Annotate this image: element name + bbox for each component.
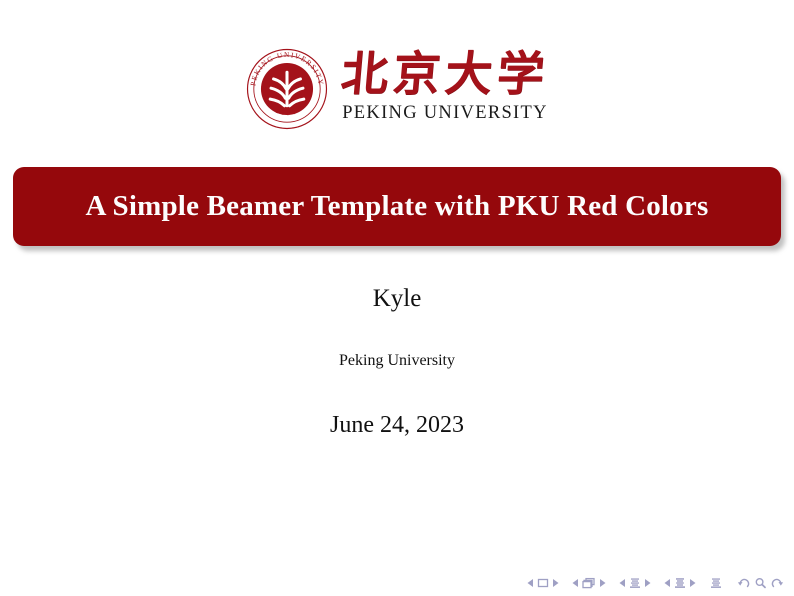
nav-group-slide[interactable] [526, 577, 560, 589]
author-name: Kyle [0, 286, 794, 311]
title-page-meta: Kyle Peking University June 24, 2023 [0, 286, 794, 437]
document-icon[interactable] [710, 577, 722, 589]
frame-icon[interactable] [582, 577, 596, 589]
page-title: A Simple Beamer Template with PKU Red Co… [86, 190, 709, 223]
search-icon[interactable] [754, 577, 767, 589]
beamer-navigation-bar[interactable] [526, 574, 786, 592]
nav-group-document[interactable] [708, 577, 724, 589]
logo-inner: PEKING UNIVERSITY 1898 [245, 47, 549, 131]
nav-group-frame[interactable] [571, 577, 607, 589]
slide-icon[interactable] [537, 577, 549, 589]
title-banner: A Simple Beamer Template with PKU Red Co… [13, 167, 781, 246]
logo-wordmark: 北京大学 PEKING UNIVERSITY [341, 47, 549, 124]
slide-next-arrow-icon[interactable] [551, 577, 560, 589]
forward-arrow-icon[interactable] [771, 577, 784, 589]
presentation-date: June 24, 2023 [0, 369, 794, 437]
slide-prev-arrow-icon[interactable] [526, 577, 535, 589]
back-arrow-icon[interactable] [737, 577, 750, 589]
university-logo: PEKING UNIVERSITY 1898 [0, 47, 794, 131]
section-icon[interactable] [674, 577, 686, 589]
subsection-next-arrow-icon[interactable] [643, 577, 652, 589]
logo-english-name: PEKING UNIVERSITY [342, 103, 548, 124]
institute-name: Peking University [0, 311, 794, 369]
nav-group-history[interactable] [735, 577, 786, 589]
subsection-icon[interactable] [629, 577, 641, 589]
presentation-slide: PEKING UNIVERSITY 1898 [0, 0, 794, 596]
peking-university-seal-icon: PEKING UNIVERSITY 1898 [245, 47, 329, 131]
nav-group-section[interactable] [663, 577, 697, 589]
nav-group-subsection[interactable] [618, 577, 652, 589]
section-next-arrow-icon[interactable] [688, 577, 697, 589]
frame-next-arrow-icon[interactable] [598, 577, 607, 589]
frame-prev-arrow-icon[interactable] [571, 577, 580, 589]
subsection-prev-arrow-icon[interactable] [618, 577, 627, 589]
section-prev-arrow-icon[interactable] [663, 577, 672, 589]
logo-chinese-name: 北京大学 [339, 49, 552, 102]
